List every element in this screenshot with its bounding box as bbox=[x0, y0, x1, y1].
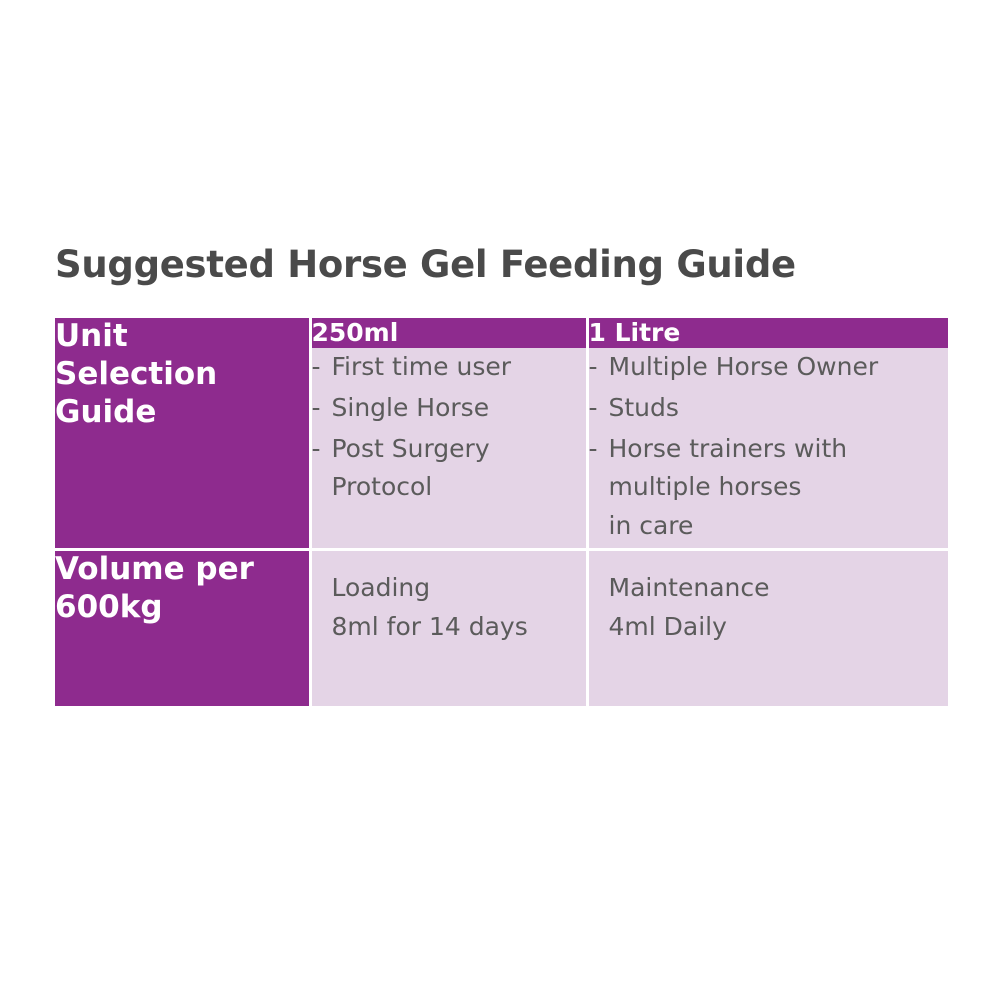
row-label-line: Unit bbox=[55, 318, 309, 356]
row-label-volume-per-600kg: Volume per 600kg bbox=[55, 549, 310, 706]
list-item: - Single Horse bbox=[312, 389, 586, 428]
list-item: - Multiple Horse Owner bbox=[589, 348, 949, 387]
cell-volume-250ml: Loading 8ml for 14 days bbox=[310, 549, 587, 706]
row-label-unit-selection-guide: Unit Selection Guide bbox=[55, 318, 310, 549]
list-item-line: Multiple Horse Owner bbox=[609, 348, 949, 387]
list-item-line: First time user bbox=[332, 348, 586, 387]
list-item-line: multiple horses bbox=[609, 468, 949, 507]
cell-unit-guide-1-litre: - Multiple Horse Owner - Studs - Horse t… bbox=[587, 348, 948, 549]
cell-line: 8ml for 14 days bbox=[332, 608, 574, 647]
table-header-row: Unit Selection Guide 250ml 1 Litre bbox=[55, 318, 948, 348]
list-item-line: Post Surgery bbox=[332, 430, 586, 469]
list-item-line: Horse trainers with bbox=[609, 430, 949, 469]
dash-marker: - bbox=[312, 348, 321, 387]
list-item: - First time user bbox=[312, 348, 586, 387]
cell-unit-guide-250ml: - First time user - Single Horse - Post … bbox=[310, 348, 587, 549]
dash-marker: - bbox=[589, 389, 598, 428]
dash-marker: - bbox=[589, 430, 598, 469]
list-item-line: Single Horse bbox=[332, 389, 586, 428]
list-item-line: Studs bbox=[609, 389, 949, 428]
cell-line: 4ml Daily bbox=[609, 608, 937, 647]
list-item-line: Protocol bbox=[332, 468, 586, 507]
dash-marker: - bbox=[589, 348, 598, 387]
row-label-line: Volume per bbox=[55, 551, 309, 589]
dash-marker: - bbox=[312, 430, 321, 469]
cell-line: Maintenance bbox=[609, 569, 937, 608]
bullet-list: - First time user - Single Horse - Post … bbox=[312, 348, 586, 507]
cell-volume-1-litre: Maintenance 4ml Daily bbox=[587, 549, 948, 706]
page-title: Suggested Horse Gel Feeding Guide bbox=[55, 243, 796, 286]
cell-line: Loading bbox=[332, 569, 574, 608]
list-item: - Studs bbox=[589, 389, 949, 428]
list-item: - Post Surgery Protocol bbox=[312, 430, 586, 508]
list-item-line: in care bbox=[609, 507, 949, 546]
row-label-line: Guide bbox=[55, 394, 309, 432]
bullet-list: - Multiple Horse Owner - Studs - Horse t… bbox=[589, 348, 949, 546]
row-label-line: 600kg bbox=[55, 589, 309, 627]
list-item: - Horse trainers with multiple horses in… bbox=[589, 430, 949, 546]
feeding-guide-table: Unit Selection Guide 250ml 1 Litre - Fir… bbox=[55, 318, 948, 706]
column-header-1-litre: 1 Litre bbox=[587, 318, 948, 348]
dash-marker: - bbox=[312, 389, 321, 428]
table-row-volume: Volume per 600kg Loading 8ml for 14 days… bbox=[55, 549, 948, 706]
row-label-line: Selection bbox=[55, 356, 309, 394]
column-header-250ml: 250ml bbox=[310, 318, 587, 348]
feeding-guide-page: Suggested Horse Gel Feeding Guide Unit S… bbox=[0, 0, 1000, 1000]
